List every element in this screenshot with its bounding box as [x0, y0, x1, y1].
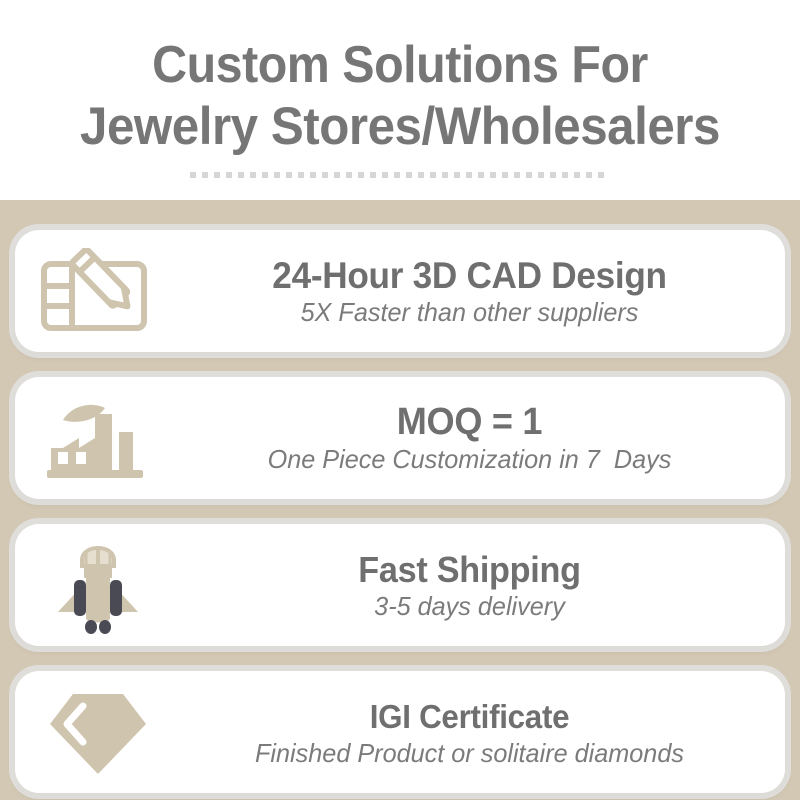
- drawing-tablet-pencil-glyph: [39, 248, 157, 334]
- card-subtitle: 5X Faster than other suppliers: [189, 296, 751, 328]
- card-text-block: 24-Hour 3D CAD Design 5X Faster than oth…: [180, 255, 785, 328]
- space-shuttle-icon: [15, 524, 180, 646]
- card-text-block: MOQ = 1 One Piece Customization in 7 Day…: [180, 402, 785, 475]
- card-title: 24-Hour 3D CAD Design: [194, 255, 744, 296]
- card-subtitle: 3-5 days delivery: [189, 590, 751, 622]
- feature-card-cad-design[interactable]: 24-Hour 3D CAD Design 5X Faster than oth…: [15, 230, 785, 352]
- page-title-line-1: Custom Solutions For: [28, 34, 772, 96]
- diamond-gem-icon: [15, 671, 180, 793]
- feature-card-list: 24-Hour 3D CAD Design 5X Faster than oth…: [15, 230, 785, 793]
- card-text-block: IGI Certificate Finished Product or soli…: [180, 696, 785, 769]
- feature-card-moq[interactable]: MOQ = 1 One Piece Customization in 7 Day…: [15, 377, 785, 499]
- promo-poster: Custom Solutions For Jewelry Stores/Whol…: [0, 0, 800, 800]
- dotted-divider: [190, 172, 610, 178]
- card-subtitle: Finished Product or solitaire diamonds: [189, 737, 751, 769]
- page-title-line-2: Jewelry Stores/Wholesalers: [28, 96, 772, 158]
- card-title: IGI Certificate: [194, 696, 744, 737]
- feature-card-shipping[interactable]: Fast Shipping 3-5 days delivery: [15, 524, 785, 646]
- factory-icon: [15, 377, 180, 499]
- card-title: MOQ = 1: [194, 402, 744, 443]
- factory-glyph: [43, 392, 153, 484]
- drawing-tablet-pencil-icon: [15, 230, 180, 352]
- feature-card-igi-certificate[interactable]: IGI Certificate Finished Product or soli…: [15, 671, 785, 793]
- title-block: Custom Solutions For Jewelry Stores/Whol…: [0, 34, 800, 178]
- space-shuttle-glyph: [48, 534, 148, 636]
- card-subtitle: One Piece Customization in 7 Days: [189, 443, 751, 475]
- poster-header: Custom Solutions For Jewelry Stores/Whol…: [0, 0, 800, 200]
- diamond-gem-glyph: [43, 684, 153, 780]
- card-title: Fast Shipping: [194, 549, 744, 590]
- card-text-block: Fast Shipping 3-5 days delivery: [180, 549, 785, 622]
